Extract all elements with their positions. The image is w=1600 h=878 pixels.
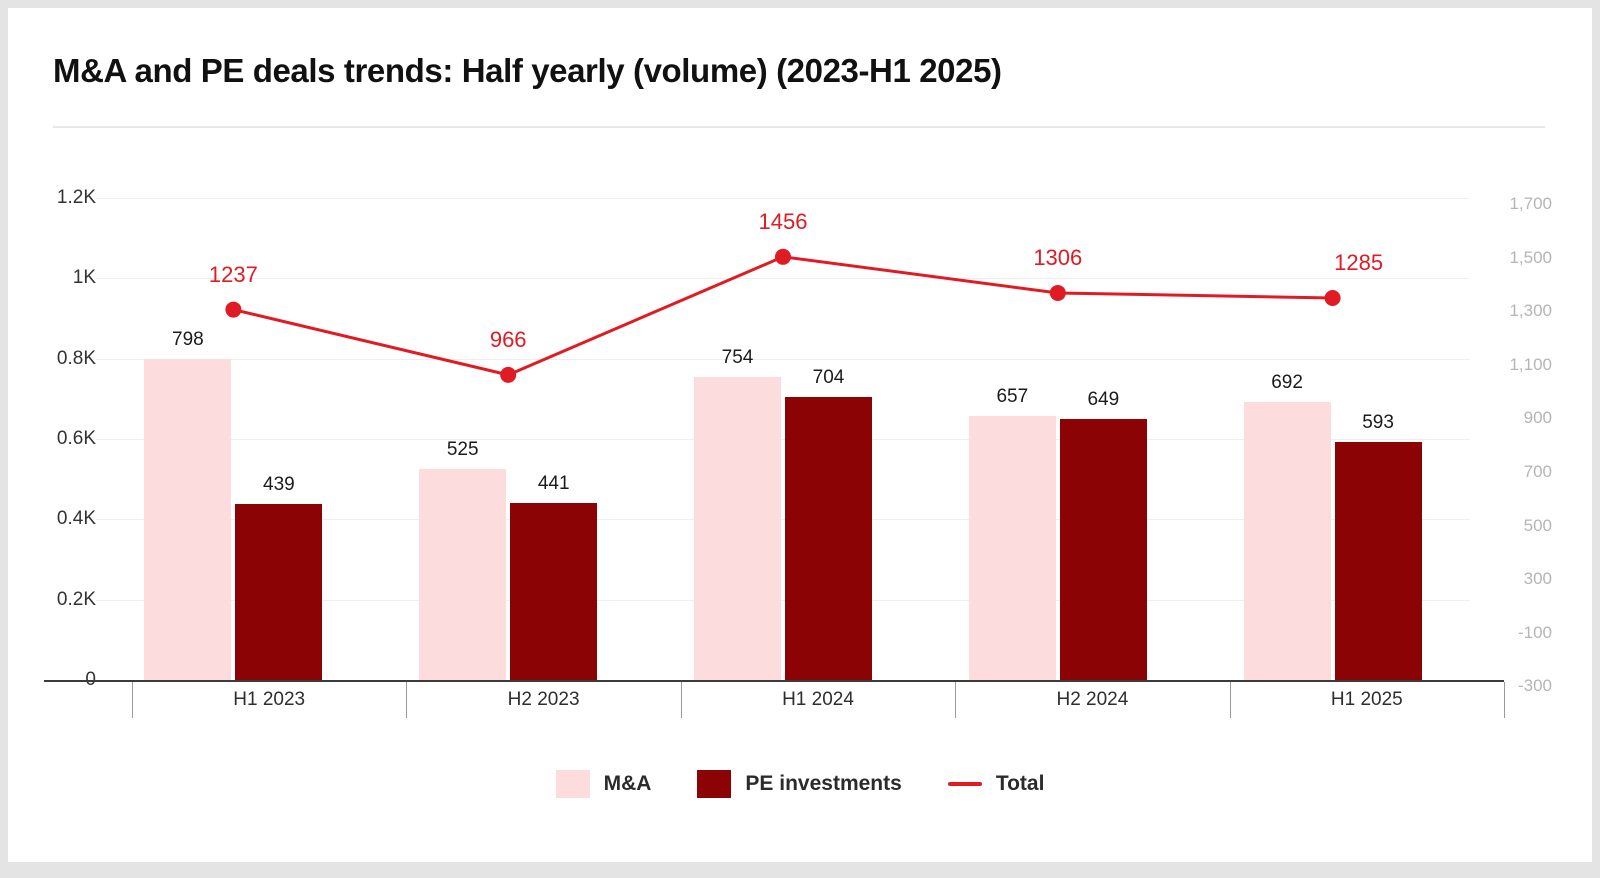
bar-value-pe-2: 704 <box>813 367 845 389</box>
x-axis-category-label: H2 2024 <box>1056 689 1128 711</box>
legend-item-1[interactable]: PE investments <box>697 770 901 798</box>
y-axis-right-tick: 1,300 <box>1482 301 1552 321</box>
legend-label: PE investments <box>745 772 901 796</box>
legend-line-icon <box>948 782 982 786</box>
bar-value-ma-3: 657 <box>996 386 1028 408</box>
y-axis-right-tick: -100 <box>1482 623 1552 643</box>
axis-layer: 1.2K1K0.8K0.6K0.4K0.2K01,7001,5001,3001,… <box>8 8 1600 878</box>
bar-value-ma-2: 754 <box>722 347 754 369</box>
legend-label: M&A <box>604 772 652 796</box>
y-axis-right-tick: 500 <box>1482 516 1552 536</box>
y-axis-left-tick: 1.2K <box>57 187 96 209</box>
bar-value-ma-0: 798 <box>172 329 204 351</box>
legend-item-0[interactable]: M&A <box>556 770 652 798</box>
x-axis-category-label: H2 2023 <box>508 689 580 711</box>
bar-value-ma-4: 692 <box>1271 372 1303 394</box>
bar-value-pe-4: 593 <box>1362 412 1394 434</box>
bar-value-pe-0: 439 <box>263 474 295 496</box>
chart-legend: M&APE investmentsTotal <box>8 770 1592 798</box>
legend-label: Total <box>996 772 1045 796</box>
chart-card: M&A and PE deals trends: Half yearly (vo… <box>8 8 1592 862</box>
total-value-label-4: 1285 <box>1334 250 1383 276</box>
y-axis-right-tick: 1,700 <box>1482 194 1552 214</box>
y-axis-left-tick: 1K <box>73 267 96 289</box>
category-separator <box>1230 682 1231 718</box>
y-axis-left-tick: 0.2K <box>57 589 96 611</box>
y-axis-right-tick: 300 <box>1482 569 1552 589</box>
x-axis-category-label: H1 2023 <box>233 689 305 711</box>
bar-value-ma-1: 525 <box>447 439 479 461</box>
y-axis-right-tick: 700 <box>1482 462 1552 482</box>
y-axis-right-tick: 1,500 <box>1482 248 1552 268</box>
total-value-label-1: 966 <box>490 327 527 353</box>
legend-swatch-icon <box>697 770 731 798</box>
x-axis-category-label: H1 2025 <box>1331 689 1403 711</box>
legend-swatch-icon <box>556 770 590 798</box>
y-axis-right-tick: 1,100 <box>1482 355 1552 375</box>
y-axis-left-tick: 0.6K <box>57 428 96 450</box>
bar-value-pe-3: 649 <box>1087 389 1119 411</box>
total-value-label-2: 1456 <box>759 209 808 235</box>
category-separator <box>681 682 682 718</box>
legend-item-2[interactable]: Total <box>948 772 1045 796</box>
bar-value-pe-1: 441 <box>538 473 570 495</box>
category-separator <box>955 682 956 718</box>
total-value-label-0: 1237 <box>209 262 258 288</box>
category-separator <box>1504 682 1505 718</box>
category-separator <box>406 682 407 718</box>
y-axis-right-tick: 900 <box>1482 408 1552 428</box>
total-value-label-3: 1306 <box>1033 245 1082 271</box>
y-axis-left-tick: 0.8K <box>57 348 96 370</box>
y-axis-left-tick: 0.4K <box>57 508 96 530</box>
category-separator <box>132 682 133 718</box>
x-axis-category-label: H1 2024 <box>782 689 854 711</box>
x-axis-line <box>44 680 1504 682</box>
